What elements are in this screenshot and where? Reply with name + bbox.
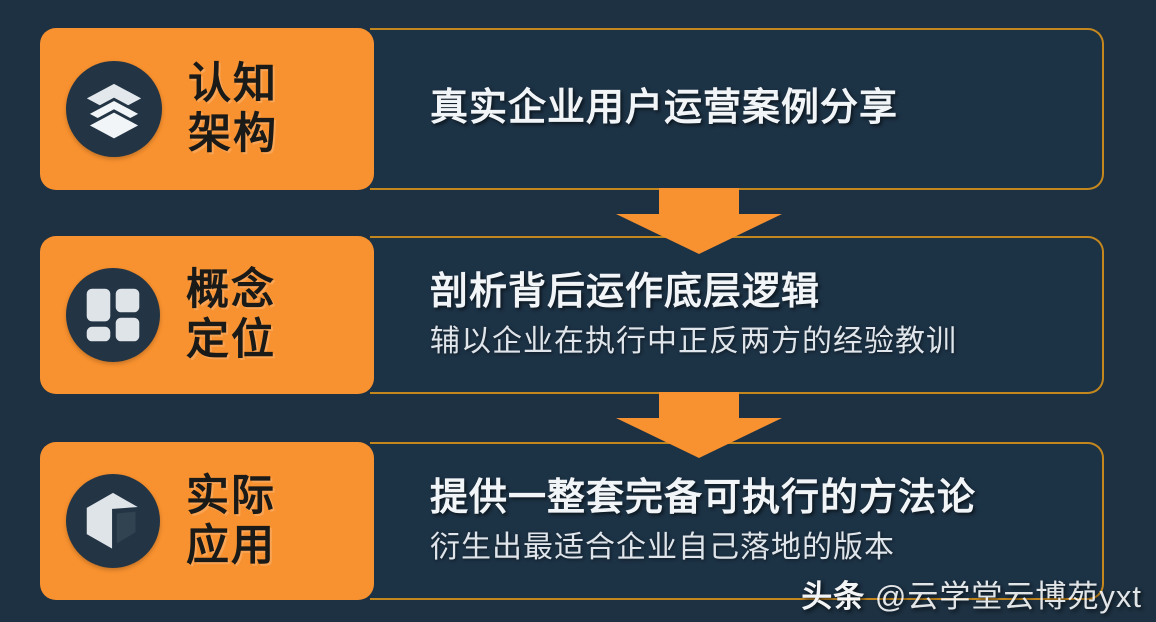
row-label-block: 概念 定位 [40,236,374,394]
layers-icon [66,61,162,157]
row-content-subtitle: 衍生出最适合企业自己落地的版本 [430,528,1078,567]
cube-icon [66,474,160,568]
watermark-handle: @云学堂云博苑yxt [875,579,1142,614]
watermark-platform: 头条 [801,579,875,614]
down-arrow-icon [614,188,784,254]
flow-row-concept-positioning: 概念 定位 剖析背后运作底层逻辑 辅以企业在执行中正反两方的经验教训 [40,236,1104,394]
infographic-stage: 认知 架构 真实企业用户运营案例分享 概念 定位 剖析背后运作底 [0,0,1156,622]
row-label-text: 实际 应用 [186,471,276,572]
row-label-block: 认知 架构 [40,28,374,190]
row-content-panel: 剖析背后运作底层逻辑 辅以企业在执行中正反两方的经验教训 [370,236,1104,394]
row-label-text: 概念 定位 [186,265,276,366]
watermark: 头条 @云学堂云博苑yxt [801,571,1142,616]
row-content-subtitle: 辅以企业在执行中正反两方的经验教训 [430,322,1078,361]
row-label-text: 认知 架构 [188,59,278,160]
row-content-panel: 真实企业用户运营案例分享 [370,28,1104,190]
down-arrow-icon [614,392,784,458]
row-label-block: 实际 应用 [40,442,374,600]
row-content-title: 剖析背后运作底层逻辑 [430,269,1078,316]
row-content-title: 提供一整套完备可执行的方法论 [430,475,1078,522]
dashboard-grid-icon [66,268,160,362]
flow-row-cognitive-framework: 认知 架构 真实企业用户运营案例分享 [40,28,1104,190]
row-content-title: 真实企业用户运营案例分享 [430,85,1078,132]
